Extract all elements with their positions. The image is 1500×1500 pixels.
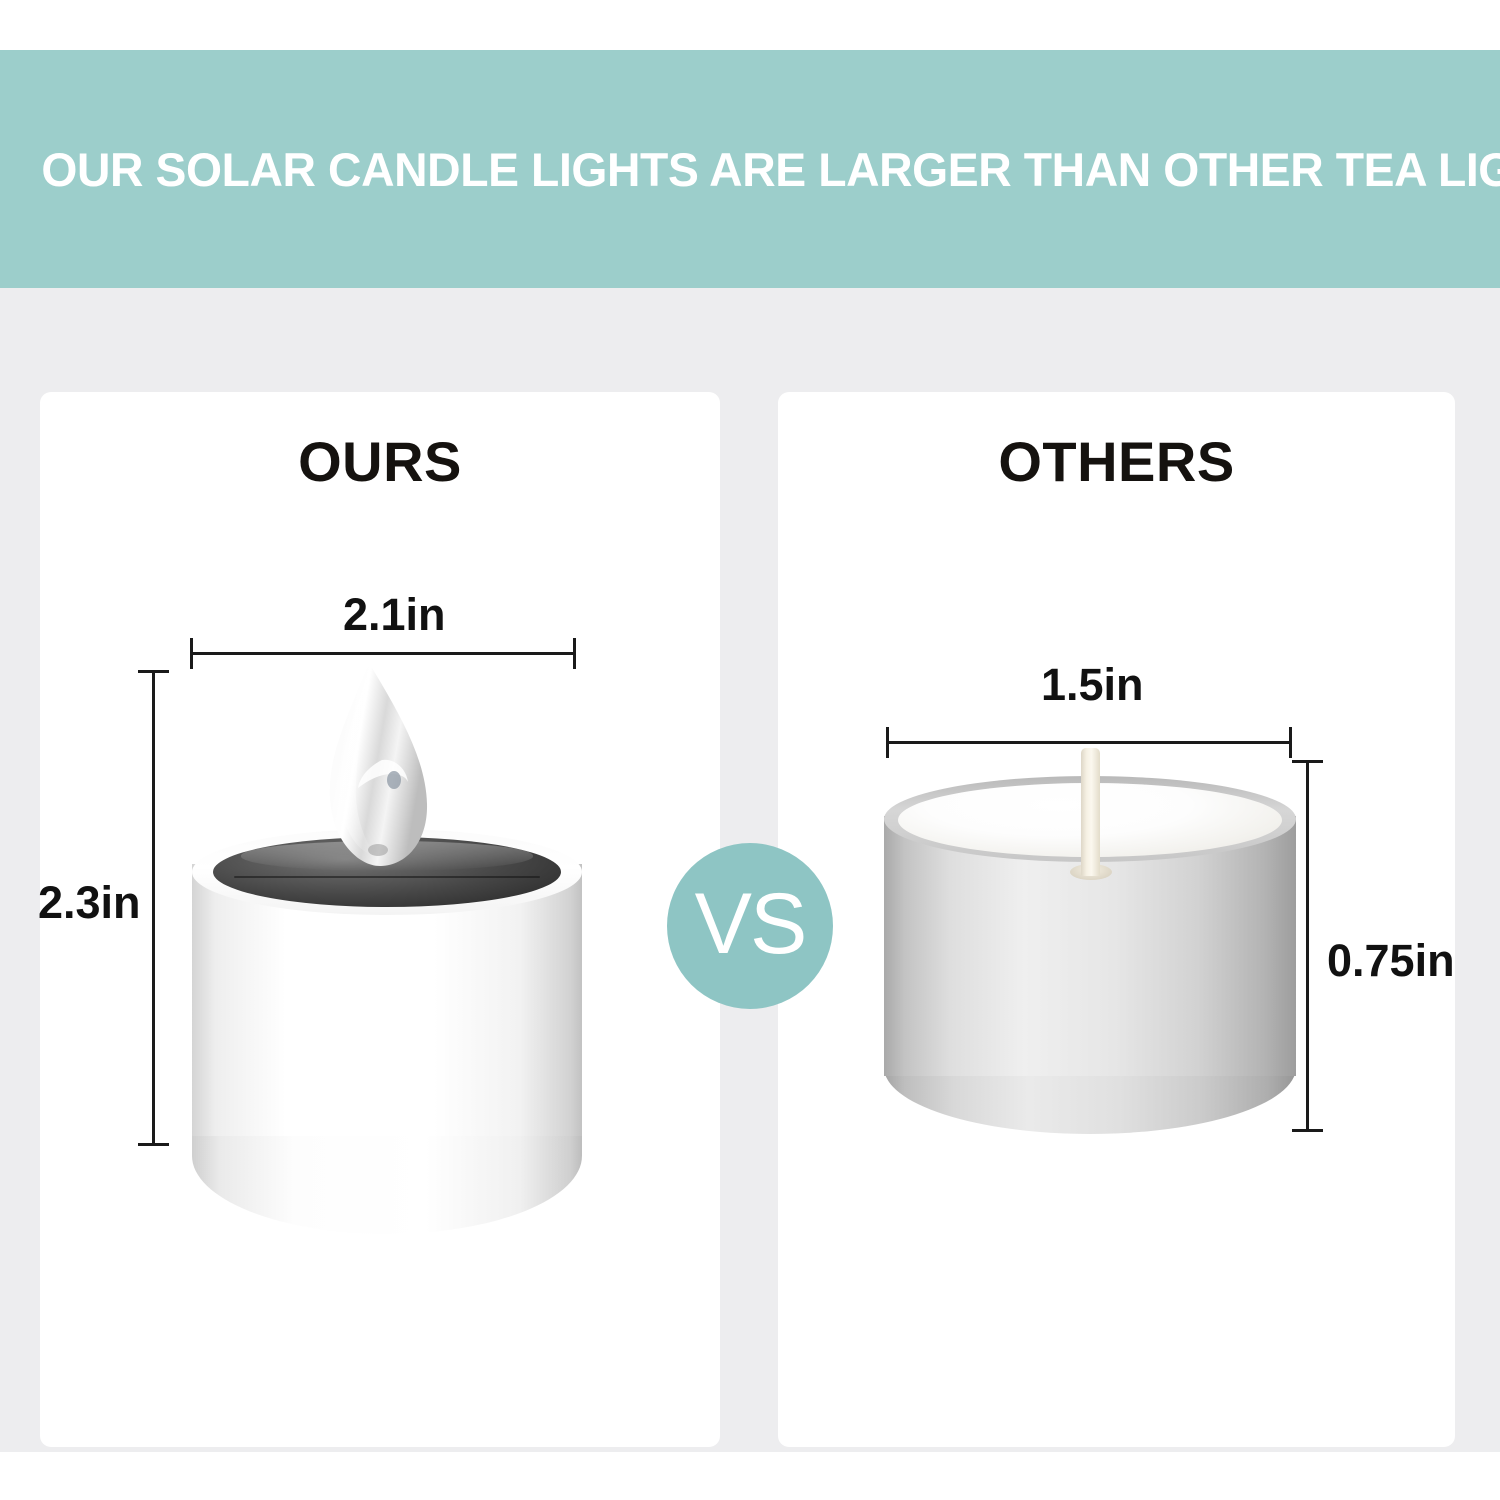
- product-image-solar-candle: [186, 664, 586, 1164]
- card-title-ours: OURS: [40, 434, 720, 490]
- product-image-tea-light: [884, 776, 1296, 1136]
- dimension-line-ours-height: [152, 670, 155, 1146]
- dimension-line-others-width: [886, 741, 1292, 744]
- vs-badge: VS: [667, 843, 833, 1009]
- vs-badge-label: VS: [695, 881, 806, 967]
- solar-panel-seam: [234, 876, 540, 878]
- banner-headline: OUR SOLAR CANDLE LIGHTS ARE LARGER THAN …: [0, 146, 1500, 193]
- dimension-label-ours-height: 2.3in: [38, 880, 141, 925]
- dimension-line-others-height: [1306, 760, 1309, 1132]
- product-comparison-infographic: OUR SOLAR CANDLE LIGHTS ARE LARGER THAN …: [0, 0, 1500, 1500]
- dimension-line-ours-width: [190, 652, 576, 655]
- header-banner: OUR SOLAR CANDLE LIGHTS ARE LARGER THAN …: [0, 50, 1500, 288]
- dimension-label-others-height: 0.75in: [1327, 938, 1455, 983]
- acrylic-flame-icon: [322, 664, 434, 872]
- tea-light-wick-icon: [1081, 748, 1100, 876]
- card-title-others: OTHERS: [778, 434, 1455, 490]
- dimension-label-others-width: 1.5in: [1041, 662, 1144, 707]
- dimension-label-ours-width: 2.1in: [343, 592, 446, 637]
